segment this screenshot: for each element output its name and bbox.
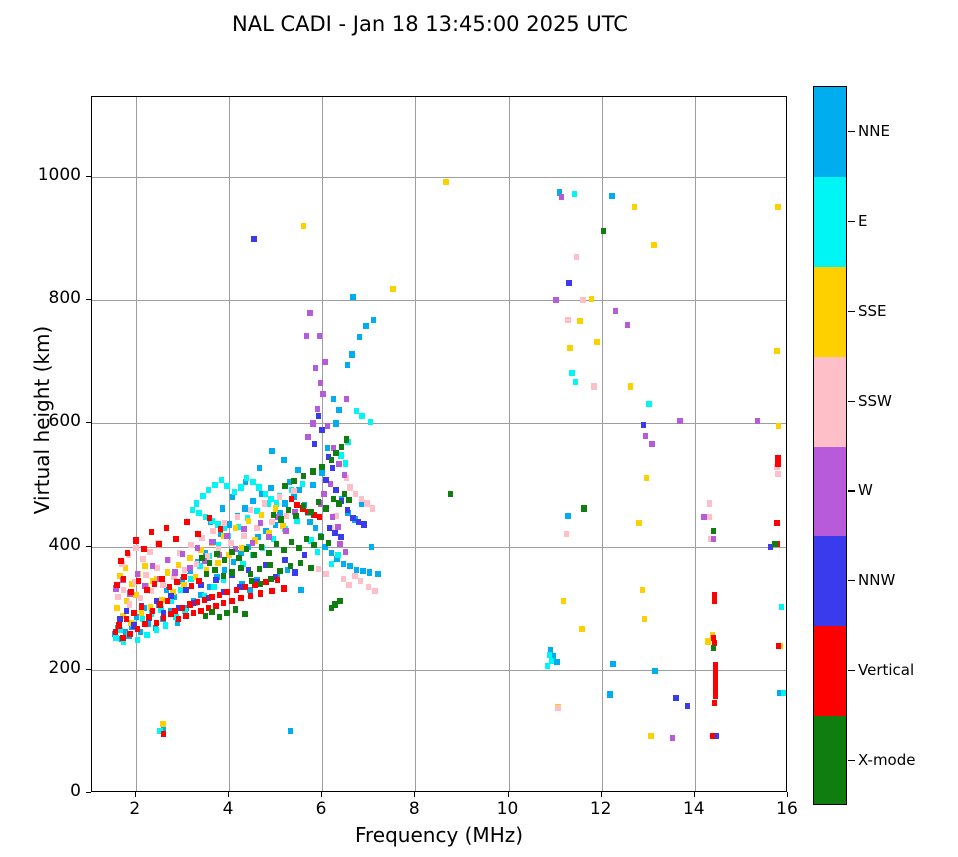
data-point-w bbox=[195, 545, 201, 551]
data-point-sse bbox=[176, 562, 182, 568]
data-point-vertical bbox=[146, 614, 152, 620]
x-tick-label: 14 bbox=[664, 799, 724, 819]
data-point-e bbox=[244, 475, 250, 481]
data-point-x-mode bbox=[236, 555, 242, 561]
data-point-nnw bbox=[124, 608, 130, 614]
data-point-ssw bbox=[555, 705, 561, 711]
colorbar-tick bbox=[848, 311, 855, 312]
data-point-x-mode bbox=[217, 614, 223, 620]
colorbar-label-sse: SSE bbox=[858, 302, 887, 320]
data-point-nne bbox=[319, 470, 325, 476]
data-point-x-mode bbox=[329, 457, 335, 463]
data-point-vertical bbox=[248, 593, 254, 599]
data-point-vertical bbox=[191, 610, 197, 616]
data-point-vertical bbox=[149, 529, 155, 535]
data-point-sse bbox=[640, 587, 646, 593]
x-tick bbox=[321, 792, 322, 797]
data-point-vertical bbox=[713, 693, 719, 699]
y-tick bbox=[86, 546, 91, 547]
data-point-w bbox=[241, 526, 247, 532]
data-point-nne bbox=[269, 448, 275, 454]
data-point-x-mode bbox=[203, 613, 209, 619]
y-tick bbox=[86, 422, 91, 423]
data-point-e bbox=[315, 549, 321, 555]
data-point-vertical bbox=[154, 620, 160, 626]
data-point-x-mode bbox=[288, 563, 294, 569]
data-point-nnw bbox=[361, 521, 367, 527]
data-point-w bbox=[150, 563, 156, 569]
data-point-x-mode bbox=[711, 645, 717, 651]
data-point-nne bbox=[313, 525, 319, 531]
data-point-x-mode bbox=[268, 576, 274, 582]
data-point-e bbox=[196, 510, 202, 516]
data-point-e bbox=[779, 604, 785, 610]
data-point-x-mode bbox=[318, 534, 324, 540]
data-point-vertical bbox=[258, 590, 264, 596]
data-point-w bbox=[304, 333, 310, 339]
data-point-x-mode bbox=[601, 228, 607, 234]
data-point-ssw bbox=[775, 471, 781, 477]
data-point-x-mode bbox=[249, 578, 255, 584]
data-point-sse bbox=[594, 339, 600, 345]
colorbar-segment-sse bbox=[814, 267, 846, 357]
data-point-nnw bbox=[316, 413, 322, 419]
data-point-vertical bbox=[712, 598, 718, 604]
data-point-vertical bbox=[238, 595, 244, 601]
data-point-vertical bbox=[218, 526, 224, 532]
data-point-sse bbox=[648, 733, 654, 739]
data-point-nne bbox=[298, 587, 304, 593]
data-point-vertical bbox=[139, 604, 145, 610]
data-point-nne bbox=[609, 193, 615, 199]
data-point-nnw bbox=[345, 507, 351, 513]
data-point-w bbox=[322, 359, 328, 365]
data-point-sse bbox=[776, 423, 782, 429]
data-point-nnw bbox=[566, 280, 572, 286]
data-point-x-mode bbox=[344, 436, 350, 442]
data-point-w bbox=[701, 514, 707, 520]
colorbar-segment-nnw bbox=[814, 536, 846, 626]
data-point-w bbox=[315, 406, 321, 412]
data-point-e bbox=[113, 635, 119, 641]
data-point-nne bbox=[345, 362, 351, 368]
data-point-ssw bbox=[241, 533, 247, 539]
x-axis-title: Frequency (MHz) bbox=[91, 823, 787, 847]
data-point-ssw bbox=[574, 254, 580, 260]
data-point-vertical bbox=[118, 558, 124, 564]
data-point-nnw bbox=[319, 427, 325, 433]
data-point-nnw bbox=[251, 236, 257, 242]
data-point-e bbox=[211, 584, 217, 590]
colorbar-label-nne: NNE bbox=[858, 122, 890, 140]
data-point-e bbox=[224, 483, 230, 489]
data-point-vertical bbox=[221, 600, 227, 606]
colorbar-tick bbox=[848, 670, 855, 671]
data-point-nne bbox=[357, 334, 363, 340]
data-point-vertical bbox=[181, 574, 187, 580]
data-point-w bbox=[344, 396, 350, 402]
data-point-sse bbox=[246, 518, 252, 524]
data-point-w bbox=[677, 418, 683, 424]
data-point-vertical bbox=[157, 601, 163, 607]
data-point-vertical bbox=[183, 613, 189, 619]
data-point-ssw bbox=[591, 383, 597, 389]
data-point-x-mode bbox=[209, 609, 215, 615]
data-point-e bbox=[359, 413, 365, 419]
data-point-vertical bbox=[128, 589, 134, 595]
data-point-x-mode bbox=[308, 565, 314, 571]
data-point-vertical bbox=[127, 631, 133, 637]
data-point-sse bbox=[567, 345, 573, 351]
colorbar-segment-vertical bbox=[814, 626, 846, 716]
data-point-vertical bbox=[142, 621, 148, 627]
data-point-vertical bbox=[195, 531, 201, 537]
plot-area bbox=[91, 96, 787, 792]
data-point-e bbox=[135, 637, 141, 643]
data-point-vertical bbox=[114, 582, 120, 588]
page-title: NAL CADI - Jan 18 13:45:00 2025 UTC bbox=[0, 12, 860, 36]
data-point-nne bbox=[281, 457, 287, 463]
data-point-w bbox=[180, 551, 186, 557]
data-point-x-mode bbox=[266, 550, 272, 556]
data-point-vertical bbox=[120, 635, 126, 641]
data-point-ssw bbox=[564, 531, 570, 537]
data-point-sse bbox=[443, 179, 449, 185]
data-point-vertical bbox=[234, 587, 240, 593]
data-point-sse bbox=[139, 610, 145, 616]
data-point-vertical bbox=[229, 598, 235, 604]
data-point-x-mode bbox=[337, 598, 343, 604]
data-point-w bbox=[342, 472, 348, 478]
data-point-ssw bbox=[138, 595, 144, 601]
data-point-vertical bbox=[776, 643, 782, 649]
data-point-ssw bbox=[580, 297, 586, 303]
data-point-e bbox=[190, 507, 196, 513]
data-point-vertical bbox=[113, 629, 119, 635]
data-point-x-mode bbox=[308, 509, 314, 515]
data-point-e bbox=[206, 487, 212, 493]
data-point-sse bbox=[561, 598, 567, 604]
ionogram-figure: NAL CADI - Jan 18 13:45:00 2025 UTC 2468… bbox=[0, 0, 958, 857]
data-point-e bbox=[646, 401, 652, 407]
data-point-nnw bbox=[333, 487, 339, 493]
data-point-x-mode bbox=[229, 549, 235, 555]
data-point-x-mode bbox=[286, 507, 292, 513]
data-point-sse bbox=[774, 348, 780, 354]
data-point-ssw bbox=[284, 513, 290, 519]
y-tick bbox=[86, 792, 91, 793]
data-point-nnw bbox=[292, 569, 298, 575]
data-point-nnw bbox=[330, 465, 336, 471]
data-point-ssw bbox=[143, 572, 149, 578]
data-point-x-mode bbox=[214, 551, 220, 557]
x-tick bbox=[601, 792, 602, 797]
data-point-w bbox=[250, 540, 256, 546]
data-point-x-mode bbox=[711, 528, 717, 534]
data-point-x-mode bbox=[336, 500, 342, 506]
data-point-nne bbox=[607, 691, 613, 697]
data-point-w bbox=[336, 461, 342, 467]
data-point-w bbox=[209, 539, 215, 545]
colorbar-label-x-mode: X-mode bbox=[858, 751, 915, 769]
data-point-w bbox=[318, 380, 324, 386]
data-point-sse bbox=[114, 605, 120, 611]
data-point-vertical bbox=[152, 581, 158, 587]
colorbar-label-w: W bbox=[858, 481, 873, 499]
data-point-nnw bbox=[641, 422, 647, 428]
data-point-e bbox=[343, 460, 349, 466]
data-point-nnw bbox=[338, 534, 344, 540]
data-point-vertical bbox=[172, 608, 178, 614]
data-point-ssw bbox=[277, 494, 283, 500]
data-point-nne bbox=[371, 317, 377, 323]
data-point-x-mode bbox=[259, 544, 265, 550]
data-point-vertical bbox=[135, 626, 141, 632]
data-point-x-mode bbox=[199, 555, 205, 561]
colorbar-segment-w bbox=[814, 447, 846, 537]
data-point-nne bbox=[360, 568, 366, 574]
data-point-nne bbox=[288, 728, 294, 734]
data-point-x-mode bbox=[244, 546, 250, 552]
data-point-w bbox=[643, 433, 649, 439]
data-point-e bbox=[300, 481, 306, 487]
data-point-vertical bbox=[133, 537, 139, 543]
data-point-ssw bbox=[121, 587, 127, 593]
x-tick-label: 16 bbox=[757, 799, 817, 819]
data-point-x-mode bbox=[304, 536, 310, 542]
data-point-x-mode bbox=[323, 505, 329, 511]
colorbar-tick bbox=[848, 401, 855, 402]
data-point-x-mode bbox=[346, 497, 352, 503]
data-point-vertical bbox=[180, 605, 186, 611]
data-point-w bbox=[320, 391, 326, 397]
data-point-ssw bbox=[147, 549, 153, 555]
data-point-w bbox=[305, 434, 311, 440]
data-point-nne bbox=[347, 563, 353, 569]
data-point-vertical bbox=[164, 525, 170, 531]
data-point-nne bbox=[610, 661, 616, 667]
data-point-x-mode bbox=[282, 483, 288, 489]
data-point-x-mode bbox=[274, 541, 280, 547]
data-point-nnw bbox=[673, 695, 679, 701]
data-point-vertical bbox=[712, 700, 718, 706]
data-point-w bbox=[337, 541, 343, 547]
data-point-x-mode bbox=[204, 571, 210, 577]
data-point-e bbox=[238, 484, 244, 490]
data-point-sse bbox=[589, 296, 595, 302]
data-point-sse bbox=[577, 318, 583, 324]
data-point-w bbox=[553, 297, 559, 303]
colorbar-segment-nne bbox=[814, 87, 846, 177]
data-point-ssw bbox=[358, 578, 364, 584]
data-point-ssw bbox=[235, 514, 241, 520]
data-point-w bbox=[313, 365, 319, 371]
data-point-nne bbox=[336, 407, 342, 413]
x-tick-label: 4 bbox=[198, 799, 258, 819]
data-point-x-mode bbox=[242, 611, 248, 617]
data-point-x-mode bbox=[238, 565, 244, 571]
data-point-vertical bbox=[195, 599, 201, 605]
data-point-x-mode bbox=[251, 552, 257, 558]
data-point-x-mode bbox=[339, 444, 345, 450]
data-point-e bbox=[573, 379, 579, 385]
y-tick bbox=[86, 299, 91, 300]
colorbar-label-ssw: SSW bbox=[858, 392, 892, 410]
data-point-x-mode bbox=[316, 499, 322, 505]
data-point-nne bbox=[363, 323, 369, 329]
data-point-e bbox=[232, 489, 238, 495]
data-point-ssw bbox=[323, 571, 329, 577]
data-point-nne bbox=[565, 513, 571, 519]
data-point-vertical bbox=[189, 583, 195, 589]
data-point-sse bbox=[636, 520, 642, 526]
data-point-vertical bbox=[217, 592, 223, 598]
data-layer bbox=[92, 97, 786, 791]
data-point-w bbox=[325, 423, 331, 429]
data-point-e bbox=[200, 493, 206, 499]
colorbar-tick bbox=[848, 131, 855, 132]
data-point-vertical bbox=[202, 597, 208, 603]
data-point-nne bbox=[369, 544, 375, 550]
data-point-x-mode bbox=[311, 542, 317, 548]
data-point-w bbox=[172, 569, 178, 575]
data-point-ssw bbox=[370, 505, 376, 511]
x-tick bbox=[787, 792, 788, 797]
data-point-vertical bbox=[269, 588, 275, 594]
data-point-w bbox=[307, 310, 313, 316]
data-point-sse bbox=[233, 525, 239, 531]
data-point-vertical bbox=[207, 515, 213, 521]
data-point-x-mode bbox=[319, 464, 325, 470]
y-tick bbox=[86, 669, 91, 670]
data-point-ssw bbox=[248, 507, 254, 513]
data-point-vertical bbox=[173, 536, 179, 542]
colorbar-segment-e bbox=[814, 177, 846, 267]
data-point-vertical bbox=[141, 546, 147, 552]
data-point-ssw bbox=[707, 500, 713, 506]
x-tick-label: 6 bbox=[291, 799, 351, 819]
data-point-nnw bbox=[312, 441, 318, 447]
data-point-sse bbox=[142, 563, 148, 569]
data-point-e bbox=[569, 370, 575, 376]
data-point-w bbox=[711, 536, 717, 542]
data-point-e bbox=[212, 482, 218, 488]
data-point-x-mode bbox=[296, 545, 302, 551]
data-point-ssw bbox=[262, 500, 268, 506]
data-point-ssw bbox=[160, 582, 166, 588]
data-point-sse bbox=[301, 223, 307, 229]
data-point-ssw bbox=[316, 566, 322, 572]
data-point-vertical bbox=[224, 589, 230, 595]
colorbar-label-e: E bbox=[858, 212, 867, 230]
data-point-sse bbox=[642, 616, 648, 622]
data-point-e bbox=[329, 561, 335, 567]
data-point-sse bbox=[644, 475, 650, 481]
colorbar-segment-x-mode bbox=[814, 716, 846, 805]
data-point-vertical bbox=[161, 731, 167, 737]
data-point-x-mode bbox=[248, 571, 254, 577]
data-point-nnw bbox=[213, 577, 219, 583]
data-point-x-mode bbox=[291, 478, 297, 484]
data-point-nne bbox=[652, 668, 658, 674]
data-point-w bbox=[330, 514, 336, 520]
data-point-nnw bbox=[685, 703, 691, 709]
data-point-vertical bbox=[275, 577, 281, 583]
colorbar-segment-ssw bbox=[814, 357, 846, 447]
y-axis-title: Virtual height (km) bbox=[30, 230, 54, 610]
data-point-x-mode bbox=[448, 491, 454, 497]
colorbar-tick bbox=[848, 490, 855, 491]
data-point-w bbox=[559, 194, 565, 200]
data-point-x-mode bbox=[333, 450, 339, 456]
data-point-vertical bbox=[243, 584, 249, 590]
data-point-x-mode bbox=[271, 512, 277, 518]
data-point-vertical bbox=[184, 519, 190, 525]
data-point-sse bbox=[215, 560, 221, 566]
data-point-vertical bbox=[125, 550, 131, 556]
data-point-w bbox=[317, 333, 323, 339]
data-point-x-mode bbox=[301, 503, 307, 509]
data-point-nne bbox=[331, 396, 337, 402]
data-point-nne bbox=[295, 467, 301, 473]
data-point-w bbox=[670, 735, 676, 741]
data-point-vertical bbox=[150, 608, 156, 614]
data-point-e bbox=[256, 484, 262, 490]
data-point-x-mode bbox=[289, 539, 295, 545]
data-point-x-mode bbox=[207, 560, 213, 566]
data-point-e bbox=[163, 622, 169, 628]
data-point-nne bbox=[341, 561, 347, 567]
data-point-sse bbox=[628, 383, 634, 389]
data-point-e bbox=[572, 191, 578, 197]
data-point-ssw bbox=[346, 582, 352, 588]
data-point-sse bbox=[579, 626, 585, 632]
data-point-ssw bbox=[188, 542, 194, 548]
colorbar-tick bbox=[848, 760, 855, 761]
x-tick bbox=[228, 792, 229, 797]
data-point-sse bbox=[187, 555, 193, 561]
colorbar-tick bbox=[848, 221, 855, 222]
x-tick bbox=[135, 792, 136, 797]
data-point-x-mode bbox=[277, 568, 283, 574]
data-point-vertical bbox=[196, 578, 202, 584]
data-point-x-mode bbox=[224, 610, 230, 616]
data-point-nne bbox=[350, 294, 356, 300]
data-point-e bbox=[545, 663, 551, 669]
data-point-vertical bbox=[144, 587, 150, 593]
data-point-nnw bbox=[302, 552, 308, 558]
colorbar-label-vertical: Vertical bbox=[858, 661, 914, 679]
data-point-vertical bbox=[136, 578, 142, 584]
x-tick-label: 10 bbox=[478, 799, 538, 819]
data-point-w bbox=[310, 420, 316, 426]
data-point-w bbox=[283, 528, 289, 534]
data-point-w bbox=[266, 534, 272, 540]
data-point-w bbox=[187, 565, 193, 571]
data-point-nne bbox=[554, 659, 560, 665]
data-point-vertical bbox=[161, 615, 167, 621]
y-tick-label: 1000 bbox=[19, 165, 81, 185]
data-point-ssw bbox=[372, 588, 378, 594]
data-point-vertical bbox=[775, 461, 781, 467]
data-point-x-mode bbox=[229, 569, 235, 575]
data-point-w bbox=[343, 549, 349, 555]
data-point-sse bbox=[165, 569, 171, 575]
data-point-vertical bbox=[159, 576, 165, 582]
y-tick bbox=[86, 176, 91, 177]
data-point-x-mode bbox=[326, 540, 332, 546]
colorbar-tick bbox=[848, 580, 855, 581]
